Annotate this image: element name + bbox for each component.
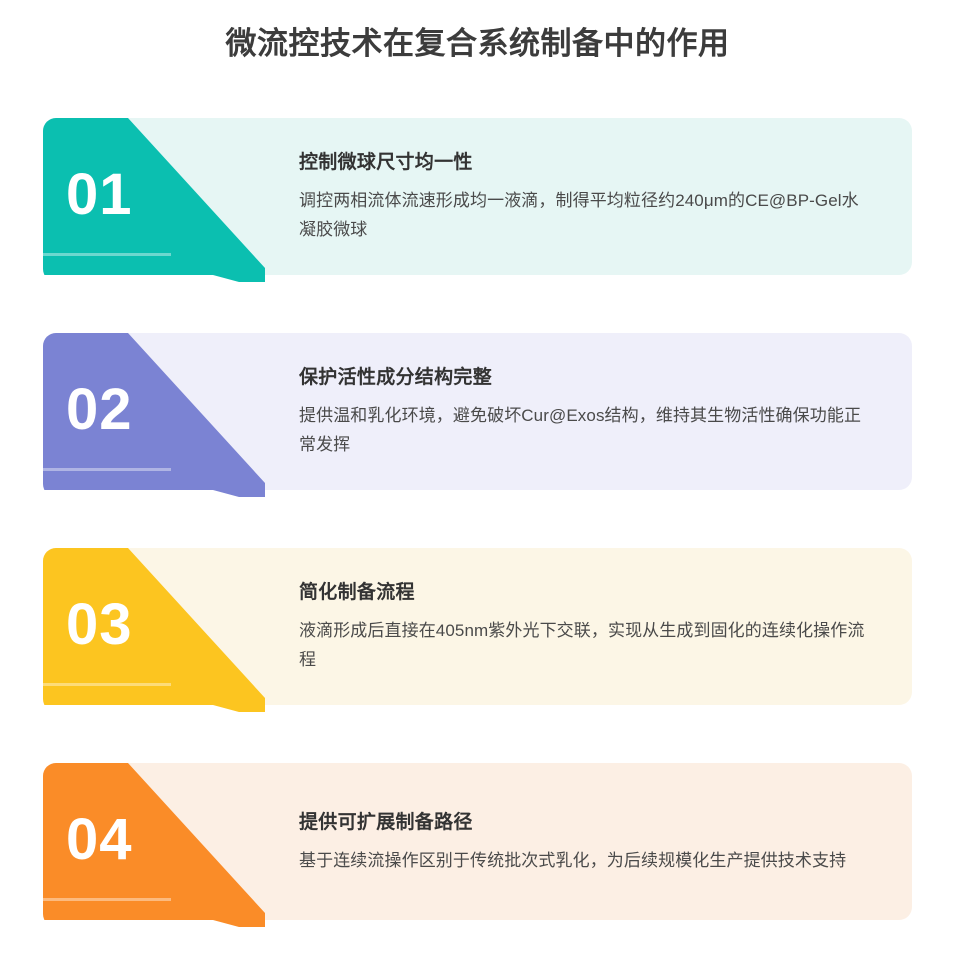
card-list: 01 控制微球尺寸均一性 调控两相流体流速形成均一液滴，制得平均粒径约240μm…	[43, 118, 912, 978]
card-number: 03	[66, 596, 133, 654]
card-body: 简化制备流程 液滴形成后直接在405nm紫外光下交联，实现从生成到固化的连续化操…	[265, 548, 912, 705]
info-card: 01 控制微球尺寸均一性 调控两相流体流速形成均一液滴，制得平均粒径约240μm…	[43, 118, 912, 275]
page-title: 微流控技术在复合系统制备中的作用	[0, 22, 955, 66]
info-card: 04 提供可扩展制备路径 基于连续流操作区别于传统批次式乳化，为后续规模化生产提…	[43, 763, 912, 920]
card-number: 01	[66, 166, 133, 224]
card-description: 液滴形成后直接在405nm紫外光下交联，实现从生成到固化的连续化操作流程	[299, 616, 874, 674]
card-number: 04	[66, 811, 133, 869]
card-heading: 简化制备流程	[299, 579, 874, 607]
card-accent-rule	[43, 898, 171, 901]
card-description: 基于连续流操作区别于传统批次式乳化，为后续规模化生产提供技术支持	[299, 846, 874, 875]
card-heading: 控制微球尺寸均一性	[299, 149, 874, 177]
card-accent-rule	[43, 468, 171, 471]
card-accent-rule	[43, 683, 171, 686]
card-description: 提供温和乳化环境，避免破坏Cur@Exos结构，维持其生物活性确保功能正常发挥	[299, 401, 874, 459]
card-description: 调控两相流体流速形成均一液滴，制得平均粒径约240μm的CE@BP-Gel水凝胶…	[299, 186, 874, 244]
card-body: 控制微球尺寸均一性 调控两相流体流速形成均一液滴，制得平均粒径约240μm的CE…	[265, 118, 912, 275]
card-body: 提供可扩展制备路径 基于连续流操作区别于传统批次式乳化，为后续规模化生产提供技术…	[265, 763, 912, 920]
card-accent-rule	[43, 253, 171, 256]
card-heading: 保护活性成分结构完整	[299, 364, 874, 392]
info-card: 03 简化制备流程 液滴形成后直接在405nm紫外光下交联，实现从生成到固化的连…	[43, 548, 912, 705]
card-heading: 提供可扩展制备路径	[299, 809, 874, 837]
card-number: 02	[66, 381, 133, 439]
infographic-page: 微流控技术在复合系统制备中的作用 01 控制微球尺寸均一性 调控两相流体流速形成…	[0, 0, 955, 963]
card-body: 保护活性成分结构完整 提供温和乳化环境，避免破坏Cur@Exos结构，维持其生物…	[265, 333, 912, 490]
info-card: 02 保护活性成分结构完整 提供温和乳化环境，避免破坏Cur@Exos结构，维持…	[43, 333, 912, 490]
